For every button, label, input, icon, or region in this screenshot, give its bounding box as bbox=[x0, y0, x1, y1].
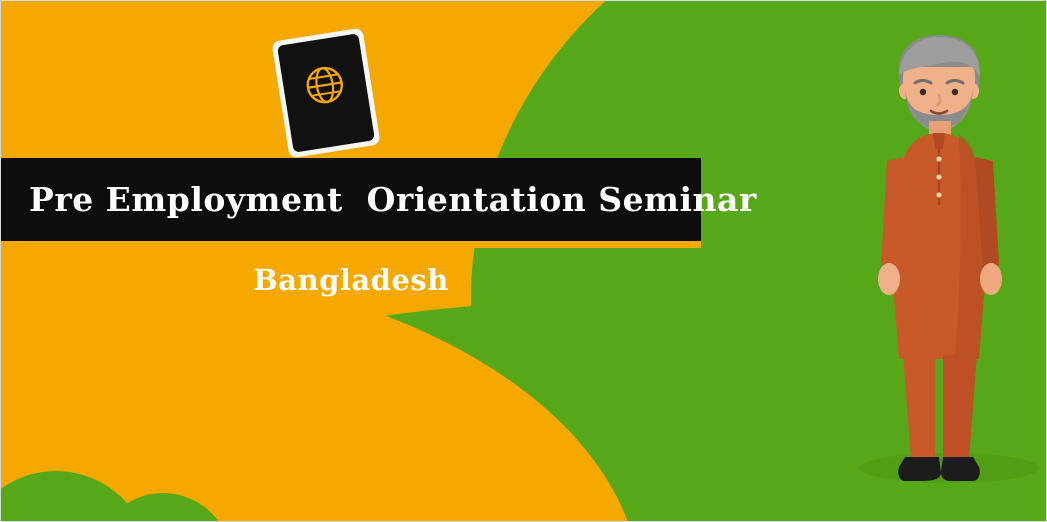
subtitle: Bangladesh bbox=[1, 263, 701, 297]
globe-icon bbox=[301, 61, 350, 114]
standing-man-illustration bbox=[847, 29, 1037, 499]
page-title: Pre Employment Orientation Seminar bbox=[1, 180, 757, 219]
passport-icon bbox=[271, 28, 380, 159]
seminar-banner: Pre Employment Orientation Seminar Bangl… bbox=[0, 0, 1047, 522]
title-underline bbox=[1, 241, 701, 248]
title-bar: Pre Employment Orientation Seminar bbox=[1, 158, 701, 241]
